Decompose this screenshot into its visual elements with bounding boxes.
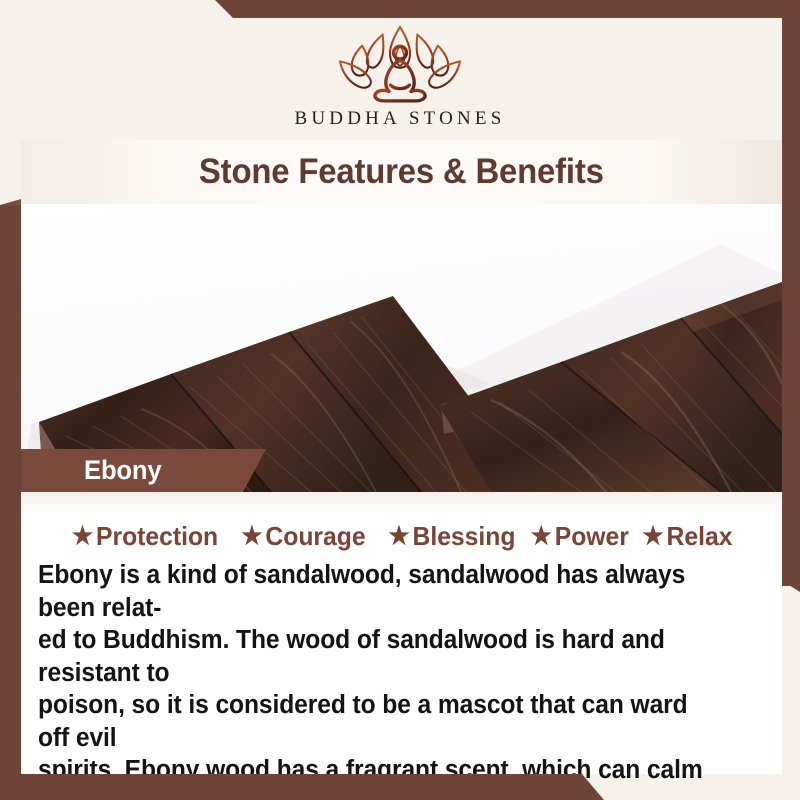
benefit-label: Blessing — [412, 521, 515, 552]
description-paragraph: Ebony is a kind of sandalwood, sandalwoo… — [38, 559, 714, 800]
frame-left-bar — [0, 205, 21, 800]
benefit-item-courage: ★ Courage — [241, 521, 365, 552]
benefit-item-protection: ★ Protection — [72, 521, 218, 552]
product-label: Ebony — [84, 455, 161, 486]
star-icon: ★ — [72, 524, 93, 549]
benefits-row: ★ Protection ★ Courage ★ Blessing ★ Powe… — [21, 521, 782, 552]
benefit-label: Courage — [265, 521, 365, 552]
content-area: ★ Protection ★ Courage ★ Blessing ★ Powe… — [21, 492, 782, 774]
star-icon: ★ — [388, 524, 409, 549]
description-line: poison, so it is considered to be a masc… — [38, 689, 714, 754]
benefit-item-power: ★ Power — [530, 521, 628, 552]
title-banner: Stone Features & Benefits — [21, 140, 782, 204]
benefit-label: Power — [554, 521, 628, 552]
ebony-wood-planks-image — [21, 204, 782, 492]
brand-name: BUDDHA STONES — [294, 108, 505, 130]
product-label-banner: Ebony — [21, 449, 266, 492]
content-top-fade — [21, 492, 782, 514]
benefit-label: Protection — [96, 521, 218, 552]
benefit-label: Relax — [667, 521, 733, 552]
description-line: ed to Buddhism. The wood of sandalwood i… — [38, 624, 714, 689]
description-line: Ebony is a kind of sandalwood, sandalwoo… — [38, 559, 714, 624]
star-icon: ★ — [643, 524, 664, 549]
star-icon: ★ — [530, 524, 551, 549]
frame-right-bar-end — [781, 570, 800, 592]
benefit-item-relax: ★ Relax — [643, 521, 733, 552]
page-title: Stone Features & Benefits — [199, 152, 604, 192]
star-icon: ★ — [241, 524, 262, 549]
brand-logo: BUDDHA STONES — [0, 22, 800, 142]
product-photo — [21, 204, 782, 492]
benefit-item-blessing: ★ Blessing — [388, 521, 515, 552]
poster-root: BUDDHA STONES Stone Features & Benefits — [0, 0, 800, 800]
lotus-meditation-icon — [320, 22, 480, 104]
frame-top-bar — [0, 0, 800, 18]
